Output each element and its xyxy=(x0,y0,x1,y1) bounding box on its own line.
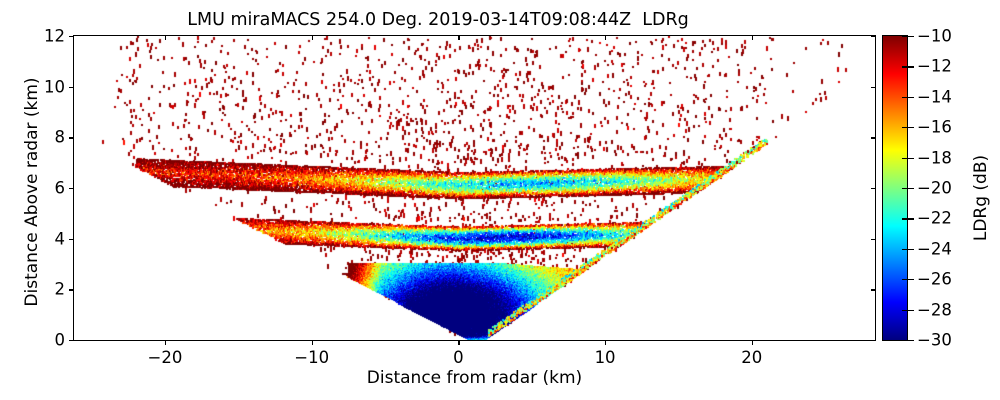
y-tick-mark xyxy=(69,239,74,240)
colorbar-tick-label: −28 xyxy=(917,300,952,319)
colorbar-tick-label: −22 xyxy=(917,209,952,228)
y-tick-mark xyxy=(69,188,74,189)
colorbar-tick-inner xyxy=(902,340,907,341)
colorbar-tick-inner xyxy=(902,249,907,250)
colorbar-tick-mark xyxy=(908,310,914,311)
colorbar-tick-mark xyxy=(908,97,914,98)
colorbar-tick-mark xyxy=(908,127,914,128)
x-tick-mark xyxy=(605,340,606,345)
x-tick-label: 10 xyxy=(595,348,616,367)
x-tick-mark xyxy=(458,340,459,345)
colorbar-tick-inner xyxy=(902,188,907,189)
x-tick-mark xyxy=(312,340,313,345)
radar-rhi-figure: LMU miraMACS 254.0 Deg. 2019-03-14T09:08… xyxy=(0,0,1000,400)
y-tick-label: 0 xyxy=(25,331,65,350)
colorbar-tick-label: −20 xyxy=(917,179,952,198)
colorbar-tick-label: −18 xyxy=(917,148,952,167)
colorbar-tick-inner xyxy=(902,310,907,311)
y-tick-mark-right xyxy=(871,239,876,240)
y-tick-mark xyxy=(69,87,74,88)
y-tick-mark xyxy=(69,137,74,138)
colorbar-tick-inner xyxy=(902,158,907,159)
colorbar-label: LDRg (dB) xyxy=(971,103,991,293)
y-tick-mark-right xyxy=(871,289,876,290)
y-tick-label: 4 xyxy=(25,229,65,248)
y-tick-label: 6 xyxy=(25,179,65,198)
x-tick-label: 0 xyxy=(453,348,464,367)
y-tick-mark-right xyxy=(871,340,876,341)
colorbar xyxy=(882,35,908,341)
x-tick-mark-top xyxy=(605,36,606,40)
x-tick-mark xyxy=(165,340,166,345)
colorbar-tick-label: −14 xyxy=(917,87,952,106)
colorbar-tick-mark xyxy=(908,218,914,219)
y-tick-mark-right xyxy=(871,137,876,138)
colorbar-tick-mark xyxy=(908,36,914,37)
y-tick-label: 12 xyxy=(25,27,65,46)
colorbar-tick-inner xyxy=(902,97,907,98)
colorbar-tick-label: −16 xyxy=(917,118,952,137)
page-title: LMU miraMACS 254.0 Deg. 2019-03-14T09:08… xyxy=(0,10,876,30)
colorbar-tick-mark xyxy=(908,66,914,67)
colorbar-tick-inner xyxy=(902,36,907,37)
radar-data-canvas xyxy=(74,36,875,340)
x-axis-label: Distance from radar (km) xyxy=(73,368,876,388)
colorbar-tick-inner xyxy=(902,279,907,280)
x-tick-mark-top xyxy=(165,36,166,40)
colorbar-tick-mark xyxy=(908,249,914,250)
colorbar-tick-mark xyxy=(908,340,914,341)
x-tick-label: 20 xyxy=(741,348,762,367)
colorbar-tick-label: −26 xyxy=(917,270,952,289)
x-tick-label: −10 xyxy=(294,348,329,367)
colorbar-tick-inner xyxy=(902,127,907,128)
colorbar-tick-label: −30 xyxy=(917,331,952,350)
x-tick-label: −20 xyxy=(148,348,183,367)
plot-axes xyxy=(73,35,876,341)
y-tick-mark-right xyxy=(871,188,876,189)
colorbar-tick-label: −10 xyxy=(917,27,952,46)
colorbar-tick-mark xyxy=(908,188,914,189)
y-tick-mark xyxy=(69,340,74,341)
x-tick-mark xyxy=(752,340,753,345)
y-tick-mark xyxy=(69,36,74,37)
y-tick-label: 8 xyxy=(25,128,65,147)
colorbar-tick-inner xyxy=(902,218,907,219)
y-tick-mark xyxy=(69,289,74,290)
y-tick-mark-right xyxy=(871,36,876,37)
y-tick-label: 2 xyxy=(25,280,65,299)
colorbar-tick-mark xyxy=(908,158,914,159)
colorbar-tick-label: −24 xyxy=(917,239,952,258)
y-tick-mark-right xyxy=(871,87,876,88)
x-tick-mark-top xyxy=(458,36,459,40)
colorbar-tick-label: −12 xyxy=(917,57,952,76)
x-tick-mark-top xyxy=(752,36,753,40)
colorbar-tick-mark xyxy=(908,279,914,280)
y-tick-label: 10 xyxy=(25,77,65,96)
colorbar-tick-inner xyxy=(902,66,907,67)
x-tick-mark-top xyxy=(312,36,313,40)
